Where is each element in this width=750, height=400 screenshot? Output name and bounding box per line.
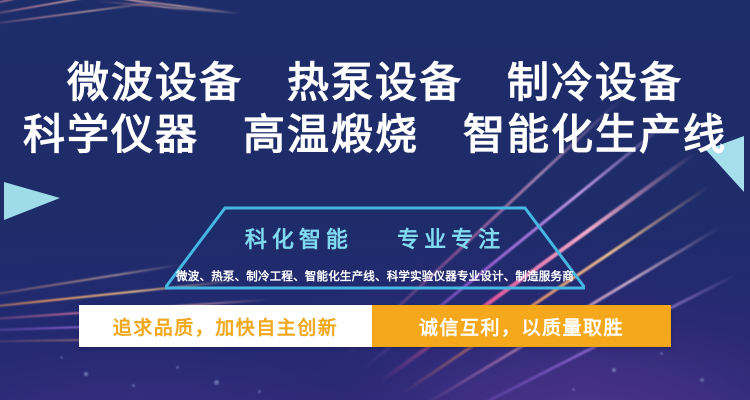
promo-banner: 微波设备 热泵设备 制冷设备 科学仪器 高温煅烧 智能化生产线 科化智能 专业专…: [0, 0, 750, 400]
bottom-slogan-bar: 追求品质，加快自主创新 诚信互利，以质量取胜: [79, 305, 671, 347]
slogan-row: 科化智能 专业专注: [165, 222, 585, 254]
bottom-bar-left-panel: 追求品质，加快自主创新: [79, 305, 372, 347]
slogan-right: 专业专注: [397, 227, 505, 252]
slogan-left: 科化智能: [245, 227, 353, 252]
bottom-bar-right-panel: 诚信互利，以质量取胜: [372, 305, 671, 347]
headline-line-2: 科学仪器 高温煅烧 智能化生产线: [0, 114, 750, 156]
triangle-left-decor: [4, 182, 60, 220]
services-description: 微波、热泵、制冷工程、智能化生产线、科学实验仪器专业设计、制造服务商: [140, 268, 610, 284]
headline-block: 微波设备 热泵设备 制冷设备 科学仪器 高温煅烧 智能化生产线: [0, 62, 750, 156]
headline-line-1: 微波设备 热泵设备 制冷设备: [0, 62, 750, 104]
